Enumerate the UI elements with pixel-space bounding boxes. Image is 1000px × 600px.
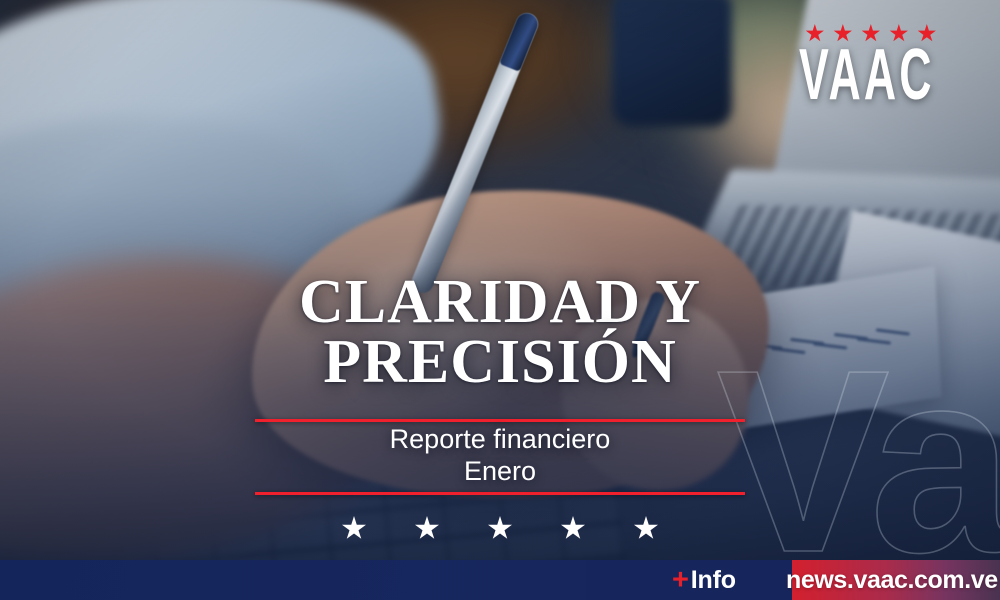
subtitle-block: Reporte financiero Enero bbox=[0, 424, 1000, 487]
rating-star-icon bbox=[561, 516, 586, 541]
rating-star-icon bbox=[415, 516, 440, 541]
website-url[interactable]: news.vaac.com.ve bbox=[786, 560, 998, 600]
footer-bar: + Info news.vaac.com.ve bbox=[0, 560, 1000, 600]
divider-rule-top bbox=[255, 419, 745, 422]
more-info-label[interactable]: + Info bbox=[672, 560, 736, 600]
rating-star-row bbox=[0, 516, 1000, 541]
info-text: Info bbox=[691, 566, 736, 595]
headline-line-1: CLARIDAD Y bbox=[0, 272, 1000, 332]
divider-rule-bottom bbox=[255, 492, 745, 495]
headline-block: CLARIDAD Y PRECISIÓN bbox=[0, 272, 1000, 392]
subtitle-line-1: Reporte financiero bbox=[0, 424, 1000, 456]
headline-line-2: PRECISIÓN bbox=[0, 332, 1000, 392]
social-media-card: Va VAAC CLARIDAD Y PRECISIÓN Reporte fin… bbox=[0, 0, 1000, 600]
logo-wordmark: VAAC bbox=[799, 45, 935, 107]
rating-star-icon bbox=[488, 516, 513, 541]
subtitle-line-2: Enero bbox=[0, 456, 1000, 488]
vaac-logo[interactable]: VAAC bbox=[799, 24, 1000, 107]
rating-star-icon bbox=[634, 516, 659, 541]
plus-icon: + bbox=[672, 566, 689, 595]
rating-star-icon bbox=[342, 516, 367, 541]
